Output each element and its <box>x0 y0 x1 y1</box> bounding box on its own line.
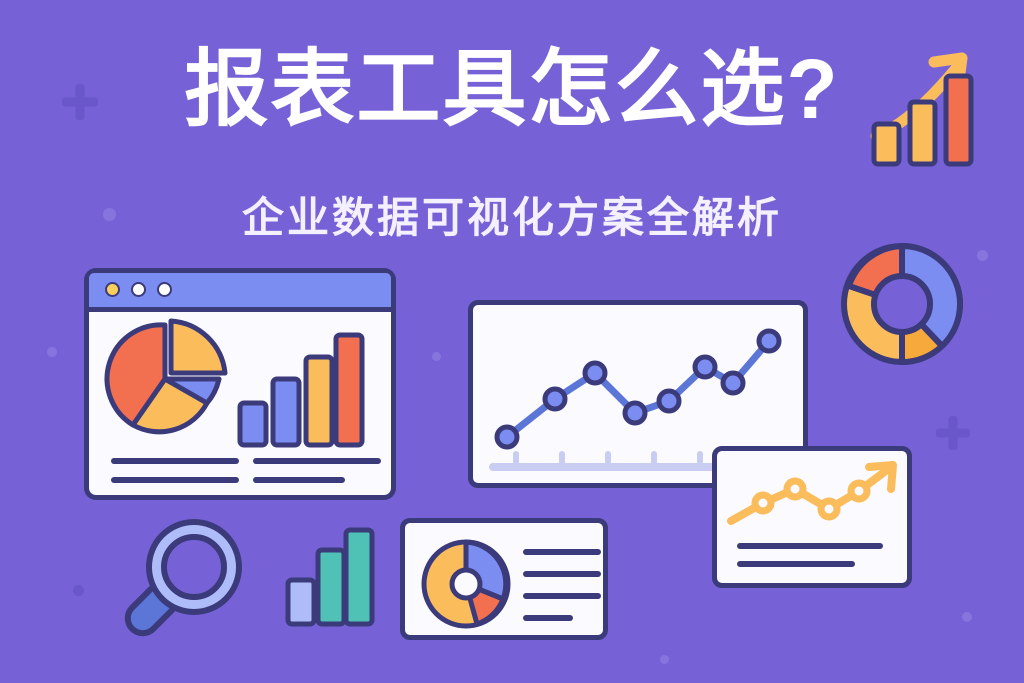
browser-text-line-2 <box>111 477 239 483</box>
dot-left-mid-icon <box>47 347 57 357</box>
dot-right-lower-icon <box>962 612 972 622</box>
browser-text-line-4 <box>253 477 345 483</box>
browser-title-bar <box>89 273 391 312</box>
trend-text-line-1 <box>737 543 883 549</box>
trend-arrow-card <box>712 446 912 588</box>
growth-bar-chart-icon <box>866 48 978 168</box>
donut-text-line-2 <box>523 571 601 577</box>
window-dot-white-1-icon[interactable] <box>131 282 146 297</box>
mini-bar-chart <box>284 526 372 626</box>
donut-summary-card <box>400 518 608 640</box>
donut-text-line-3 <box>523 593 601 599</box>
subtitle-row: 企业数据可视化方案全解析 <box>0 184 1024 245</box>
browser-text-line-1 <box>111 458 239 464</box>
trend-text-line-2 <box>737 561 855 567</box>
browser-text-line-3 <box>253 458 381 464</box>
dot-bottom-center-icon <box>660 655 669 664</box>
donut-text-line-4 <box>523 615 573 621</box>
window-dot-yellow-icon[interactable] <box>105 282 120 297</box>
magnifying-glass-icon <box>112 512 252 652</box>
trend-line-chart <box>725 457 909 537</box>
donut-text-line-1 <box>523 549 601 555</box>
donut-chart <box>419 537 513 631</box>
window-dot-white-2-icon[interactable] <box>157 282 172 297</box>
pie-chart <box>103 317 233 447</box>
side-donut-chart <box>836 238 968 370</box>
plus-right-icon <box>936 416 970 450</box>
dot-center-mid-icon <box>432 352 441 361</box>
dot-lower-left-icon <box>73 585 84 596</box>
dot-right-upper-icon <box>977 250 988 261</box>
bar-chart <box>237 331 363 447</box>
poster-canvas: 报表工具怎么选? 企业数据可视化方案全解析 <box>0 0 1024 683</box>
page-subtitle: 企业数据可视化方案全解析 <box>242 194 782 241</box>
browser-dashboard-card <box>84 268 396 500</box>
page-title: 报表工具怎么选? <box>184 44 839 135</box>
